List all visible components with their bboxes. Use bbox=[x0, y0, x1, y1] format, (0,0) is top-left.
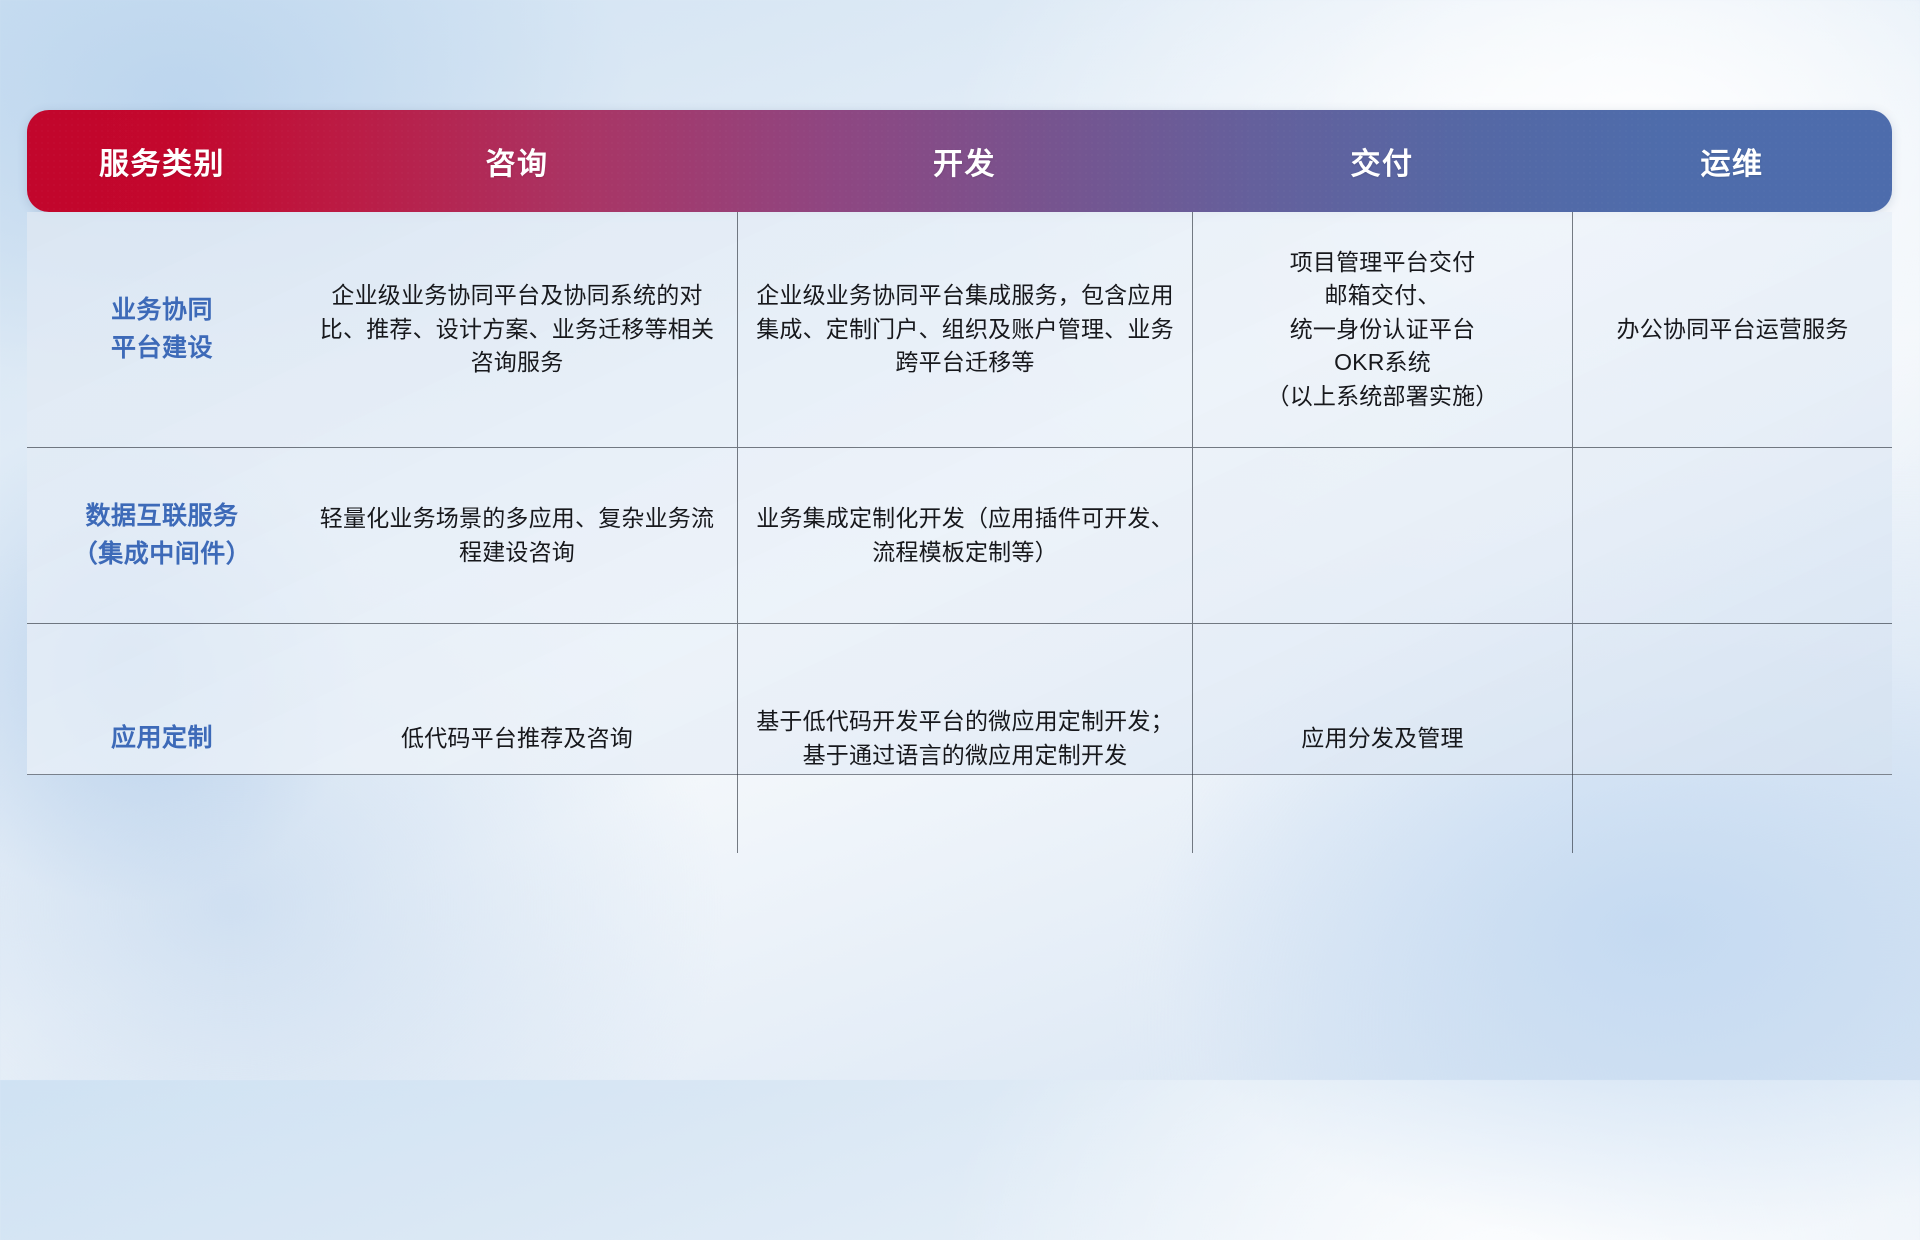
table-body: 业务协同 平台建设 企业级业务协同平台及协同系统的对比、推荐、设计方案、业务迁移… bbox=[27, 212, 1892, 775]
cell-operations: 办公协同平台运营服务 bbox=[1572, 212, 1892, 447]
column-header-category: 服务类别 bbox=[27, 139, 297, 183]
cell-text: 业务集成定制化开发（应用插件可开发、流程模板定制等） bbox=[754, 502, 1176, 569]
row-category-label: 数据互联服务 （集成中间件） bbox=[27, 448, 297, 623]
cell-delivery bbox=[1192, 448, 1572, 623]
table-row: 业务协同 平台建设 企业级业务协同平台及协同系统的对比、推荐、设计方案、业务迁移… bbox=[27, 212, 1892, 447]
cell-operations bbox=[1572, 624, 1892, 853]
column-header-operations: 运维 bbox=[1572, 139, 1892, 183]
table-header-row: 服务类别 咨询 开发 交付 运维 bbox=[27, 110, 1892, 212]
column-header-delivery: 交付 bbox=[1192, 139, 1572, 183]
row-category-line-2: 平台建设 bbox=[111, 334, 213, 362]
cell-text: 基于低代码开发平台的微应用定制开发； 基于通过语言的微应用定制开发 bbox=[756, 705, 1174, 772]
cell-text: 企业级业务协同平台及协同系统的对比、推荐、设计方案、业务迁移等相关咨询服务 bbox=[313, 279, 721, 380]
cell-consulting: 轻量化业务场景的多应用、复杂业务流程建设咨询 bbox=[297, 448, 737, 623]
table-row: 数据互联服务 （集成中间件） 轻量化业务场景的多应用、复杂业务流程建设咨询 业务… bbox=[27, 447, 1892, 623]
row-category-label: 业务协同 平台建设 bbox=[27, 212, 297, 447]
cell-text: 项目管理平台交付 邮箱交付、 统一身份认证平台 OKR系统 （以上系统部署实施） bbox=[1267, 246, 1499, 414]
cell-text: 企业级业务协同平台集成服务，包含应用集成、定制门户、组织及账户管理、业务跨平台迁… bbox=[754, 279, 1176, 380]
cell-operations bbox=[1572, 448, 1892, 623]
cell-text: 低代码平台推荐及咨询 bbox=[401, 722, 633, 756]
service-matrix-table: 服务类别 咨询 开发 交付 运维 业务协同 平台建设 企业级业务协同平台及协同系… bbox=[27, 110, 1892, 775]
cell-text: 轻量化业务场景的多应用、复杂业务流程建设咨询 bbox=[313, 502, 721, 569]
row-category-line-1: 数据互联服务 bbox=[85, 502, 238, 530]
cell-development: 业务集成定制化开发（应用插件可开发、流程模板定制等） bbox=[737, 448, 1192, 623]
cell-development: 基于低代码开发平台的微应用定制开发； 基于通过语言的微应用定制开发 bbox=[737, 624, 1192, 853]
cell-consulting: 企业级业务协同平台及协同系统的对比、推荐、设计方案、业务迁移等相关咨询服务 bbox=[297, 212, 737, 447]
cell-delivery: 项目管理平台交付 邮箱交付、 统一身份认证平台 OKR系统 （以上系统部署实施） bbox=[1192, 212, 1572, 447]
cell-consulting: 低代码平台推荐及咨询 bbox=[297, 624, 737, 853]
row-category-label: 应用定制 bbox=[27, 624, 297, 853]
table-row: 应用定制 低代码平台推荐及咨询 基于低代码开发平台的微应用定制开发； 基于通过语… bbox=[27, 623, 1892, 853]
cell-delivery: 应用分发及管理 bbox=[1192, 624, 1572, 853]
cell-text: 应用分发及管理 bbox=[1301, 722, 1463, 756]
cell-text: 办公协同平台运营服务 bbox=[1617, 313, 1849, 347]
row-category-line-2: （集成中间件） bbox=[73, 540, 252, 568]
row-category-line-1: 应用定制 bbox=[111, 724, 213, 752]
column-header-development: 开发 bbox=[737, 139, 1192, 183]
column-header-consulting: 咨询 bbox=[297, 139, 737, 183]
row-category-line-1: 业务协同 bbox=[111, 296, 213, 324]
cell-development: 企业级业务协同平台集成服务，包含应用集成、定制门户、组织及账户管理、业务跨平台迁… bbox=[737, 212, 1192, 447]
